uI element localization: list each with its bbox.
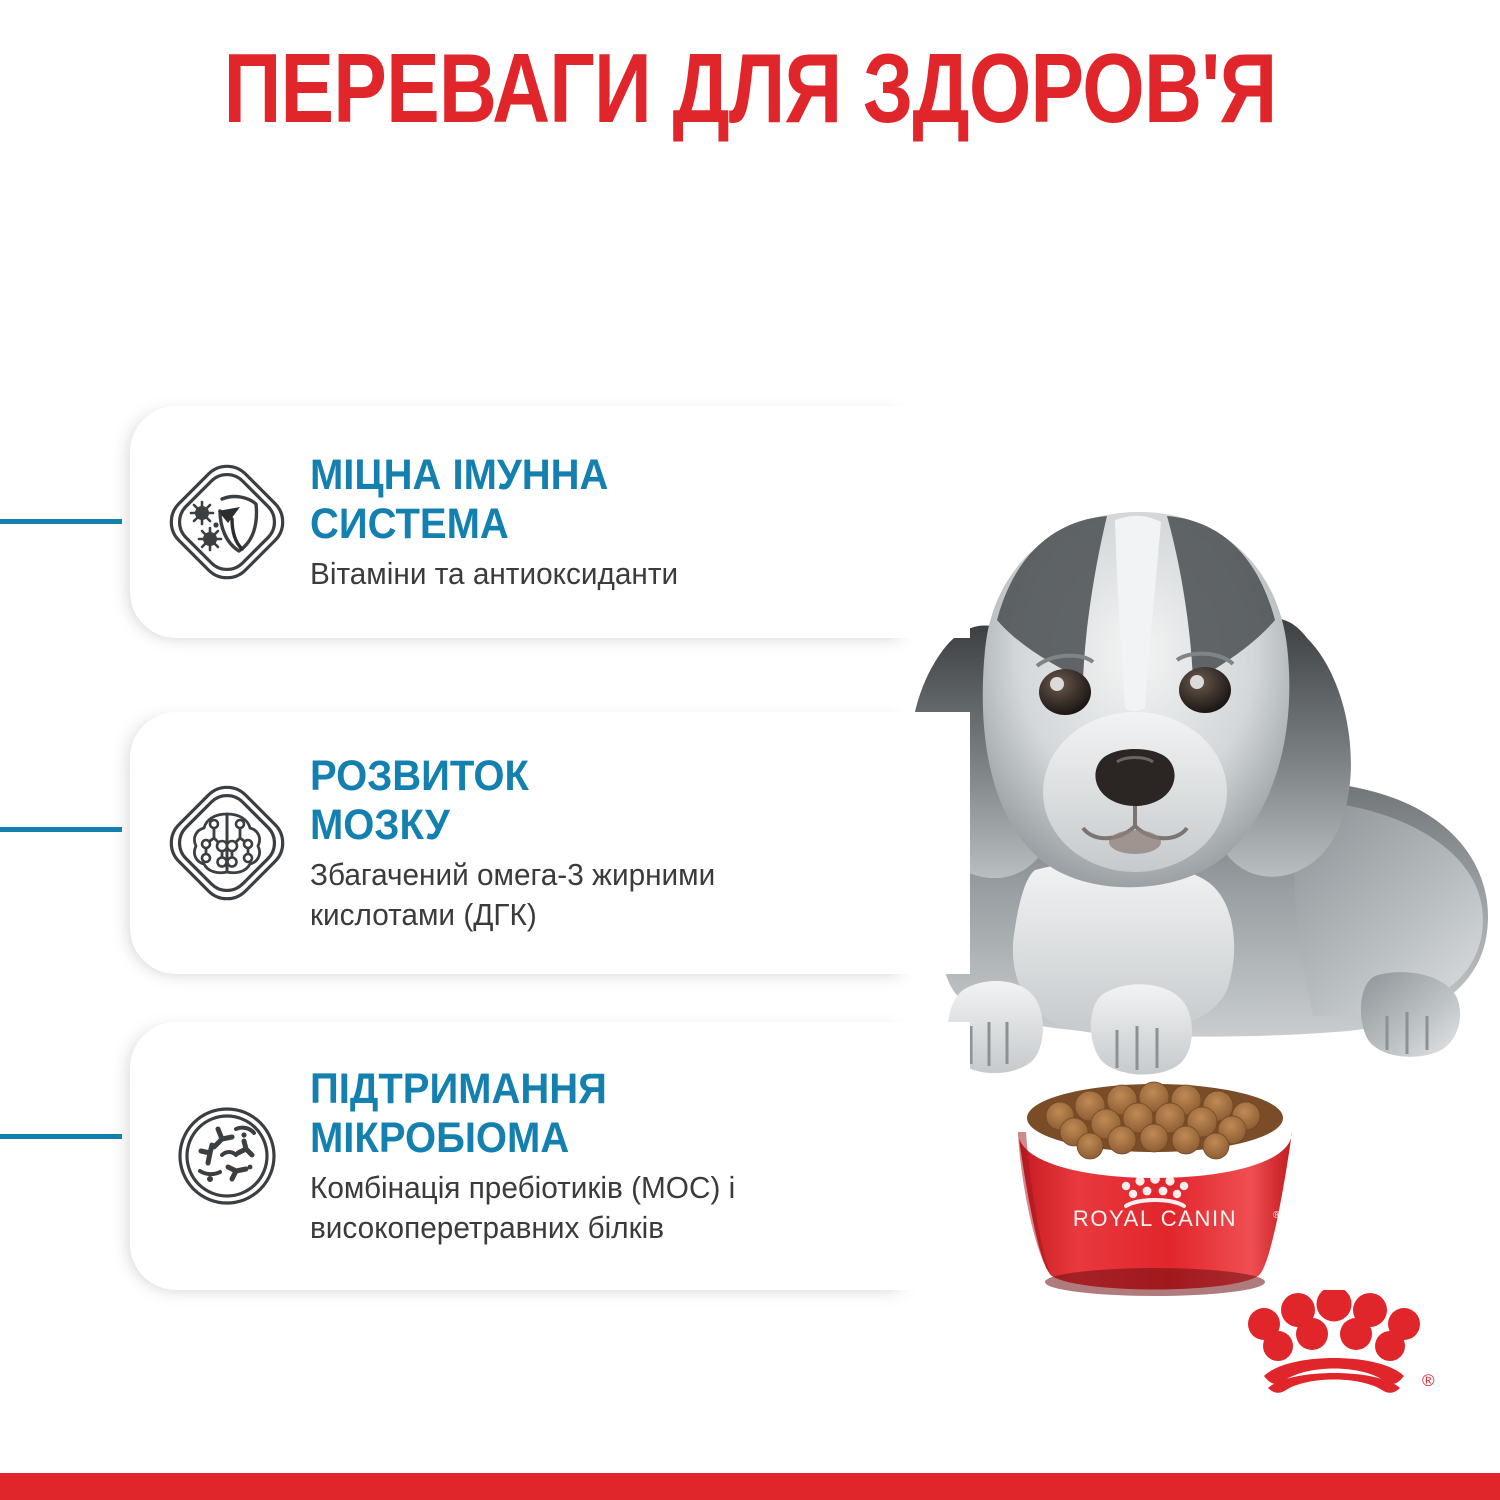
food-bowl: ROYAL CANIN ® (940, 1070, 1370, 1310)
benefit-text-block: РОЗВИТОК МОЗКУ Збагачений омега-3 жирним… (302, 752, 910, 935)
immunity-shield-icon (152, 461, 302, 583)
brain-development-icon (152, 782, 302, 904)
benefit-subtitle: Комбінація пребіотиків (MOC) і високопер… (310, 1168, 886, 1248)
benefit-card-microbiome[interactable]: ПІДТРИМАННЯ МІКРОБІОМА Комбінація пребіо… (130, 1022, 910, 1290)
registered-trademark: ® (1422, 1371, 1435, 1390)
benefit-subtitle: Вітаміни та антиоксиданти (310, 554, 886, 594)
connector-line-1 (0, 519, 122, 524)
bottom-red-bar (0, 1473, 1500, 1500)
benefit-card-brain[interactable]: РОЗВИТОК МОЗКУ Збагачений омега-3 жирним… (130, 712, 910, 974)
benefit-heading: РОЗВИТОК МОЗКУ (310, 752, 868, 850)
benefit-heading: МІЦНА ІМУННА СИСТЕМА (310, 451, 868, 549)
bowl-trademark: ® (1273, 1210, 1281, 1221)
germ-glyphs (191, 502, 221, 550)
royal-canin-crown-logo: ® (1226, 1290, 1444, 1408)
benefit-card-immunity[interactable]: МІЦНА ІМУННА СИСТЕМА Вітаміни та антиокс… (130, 406, 910, 638)
bowl-brand-text: ROYAL CANIN (1073, 1206, 1237, 1231)
benefit-text-block: МІЦНА ІМУННА СИСТЕМА Вітаміни та антиокс… (302, 451, 910, 594)
benefit-text-block: ПІДТРИМАННЯ МІКРОБІОМА Комбінація пребіо… (302, 1065, 910, 1248)
connector-line-3 (0, 1134, 122, 1139)
microbiome-icon (152, 1095, 302, 1217)
connector-line-2 (0, 827, 122, 832)
poster-canvas: ПЕРЕВАГИ ДЛЯ ЗДОРОВ'Я (0, 0, 1500, 1500)
benefit-subtitle: Збагачений омега-3 жирними кислотами (ДГ… (310, 855, 886, 935)
benefit-heading: ПІДТРИМАННЯ МІКРОБІОМА (310, 1065, 868, 1163)
page-title: ПЕРЕВАГИ ДЛЯ ЗДОРОВ'Я (135, 36, 1365, 140)
